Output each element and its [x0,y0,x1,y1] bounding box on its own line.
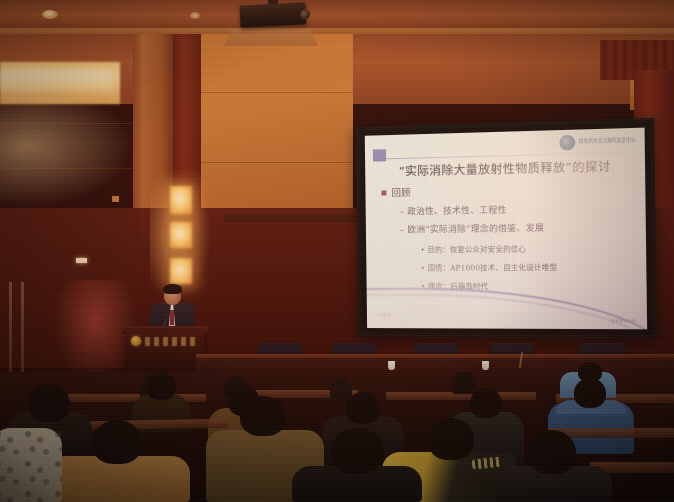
presenter-hair [163,284,182,294]
audience-member [330,378,352,398]
wall-rail [21,282,24,378]
slide-footer-right: 国家核安全局 [611,319,636,324]
audience-head [428,418,474,460]
audience-head [92,420,142,464]
logo-english-name: Nuclear and Radiation Safety Center [579,142,636,146]
projector-ceiling-plate [224,30,318,46]
wall-rail [9,282,12,378]
audience-head [574,378,606,408]
slide-bullet-level2: – 欧洲“实际消除”理念的借鉴、发展 [400,221,544,235]
audience-head [470,388,502,418]
ceiling-projector [239,2,306,27]
audience-head [330,428,384,474]
slide-logo: 国家核安全与辐射安全中心 Nuclear and Radiation Safet… [560,133,636,151]
projection-screen: 国家核安全与辐射安全中心 Nuclear and Radiation Safet… [356,118,657,339]
logo-text-block: 国家核安全与辐射安全中心 Nuclear and Radiation Safet… [579,137,636,146]
organization-emblem-icon [560,135,576,151]
audience-head [146,372,176,400]
exit-light-icon [76,258,87,263]
ceiling-downlight-icon [42,10,58,19]
slide-bullet-level1: 回顾 [381,185,410,200]
slide-title: “实际消除大量放射性物质释放”的探讨 [387,158,623,180]
audience-member [452,372,476,394]
ceiling-downlight-icon [190,12,200,19]
slide-bullet-level3: • 目的：恢复公众对安全的信心 [420,244,526,255]
wall-sconce-column [168,186,194,284]
pattern-texture [0,428,62,502]
bullet-square-icon [381,190,386,195]
wall-panel-glow [0,96,133,208]
podium-nameplate [145,337,199,346]
teacup-icon [388,361,395,370]
sconce-divider [224,214,374,222]
audience-head [346,392,380,424]
slide-footer-left: 汇报提纲 [377,312,391,317]
slide-bullet-level2: – 政治性、技术性、工程性 [400,203,507,217]
slide-swoosh [365,287,647,329]
presentation-slide: 国家核安全与辐射安全中心 Nuclear and Radiation Safet… [365,128,647,330]
presenter-tie [170,310,174,325]
wall-switch-plate [112,196,119,202]
conference-photo: 国家核安全与辐射安全中心 Nuclear and Radiation Safet… [0,0,674,502]
audience-head [528,430,576,474]
sconce-light-icon [170,222,192,248]
sconce-light-icon [170,258,192,284]
recessed-light-glow [0,70,112,90]
audience-head [28,384,70,422]
audience-head [240,396,286,436]
podium-emblem-icon [131,336,141,346]
slide-bullet-level3: • 国情：AP1000技术、自主化设计堆型 [421,263,558,274]
slide-accent-square [373,149,386,161]
teacup-icon [482,361,489,370]
slide-bullet-level1-text: 回顾 [391,185,410,199]
sconce-light-icon [170,186,192,214]
